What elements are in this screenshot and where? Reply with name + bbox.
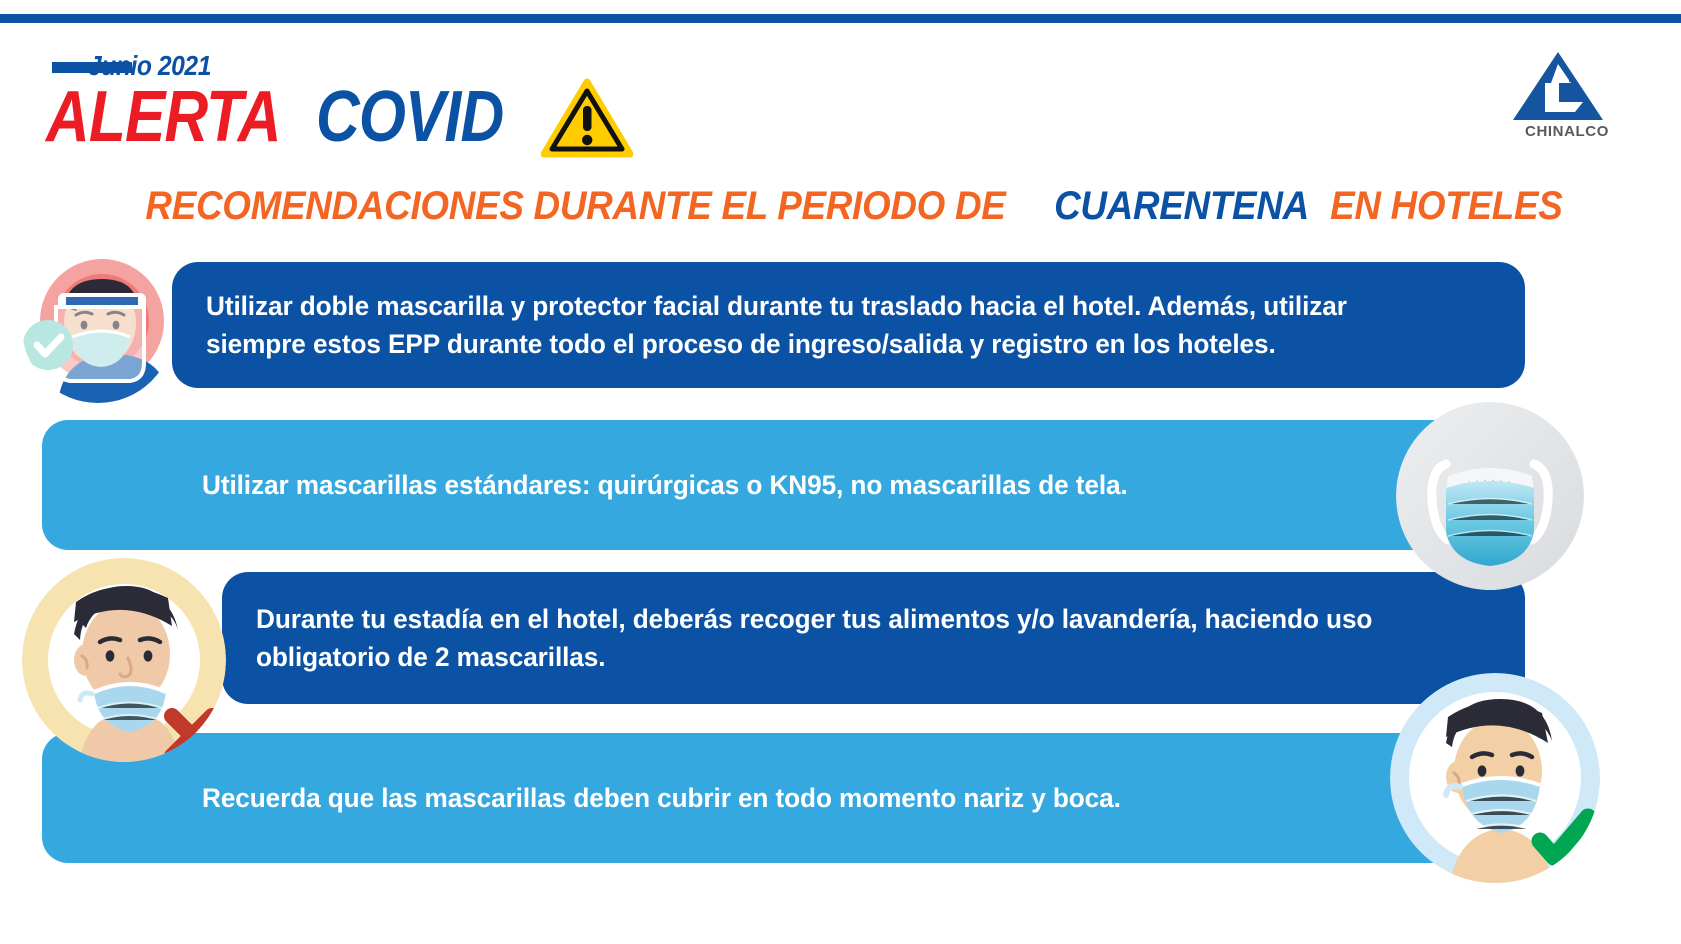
recommendation-text-3: Durante tu estadía en el hotel, deberás … — [256, 600, 1454, 677]
infographic-poster: Junio 2021 ALERTA COVID CHINALCO RECOMEN… — [0, 0, 1681, 944]
chinalco-logo: CHINALCO — [1511, 50, 1623, 140]
brand-alerta-text: ALERTA — [46, 81, 281, 153]
recommendation-card-4: Recuerda que las mascarillas deben cubri… — [42, 733, 1490, 863]
brand-title: ALERTA COVID — [46, 78, 633, 156]
chinalco-logo-text: CHINALCO — [1511, 123, 1623, 140]
face-shield-person-icon — [22, 251, 174, 403]
masked-person-correct-icon — [1390, 673, 1600, 883]
surgical-mask-icon — [1396, 402, 1584, 590]
recommendation-card-3: Durante tu estadía en el hotel, deberás … — [222, 572, 1525, 704]
subtitle-part2: EN HOTELES — [1330, 184, 1562, 229]
page-subtitle: RECOMENDACIONES DURANTE EL PERIODO DE CU… — [0, 184, 1681, 229]
subtitle-highlight: CUARENTENA — [1054, 184, 1309, 229]
recommendation-text-1: Utilizar doble mascarilla y protector fa… — [206, 287, 1452, 364]
mask-below-nose-person-icon — [22, 558, 226, 762]
recommendation-card-1: Utilizar doble mascarilla y protector fa… — [172, 262, 1525, 388]
recommendation-text-2: Utilizar mascarillas estándares: quirúrg… — [202, 466, 1128, 504]
chinalco-triangle-logo-icon — [1511, 50, 1623, 122]
brand-covid-text: COVID — [316, 81, 503, 153]
top-rule-divider — [0, 14, 1681, 23]
recommendation-card-2: Utilizar mascarillas estándares: quirúrg… — [42, 420, 1490, 550]
recommendation-text-4: Recuerda que las mascarillas deben cubri… — [202, 779, 1121, 817]
subtitle-part1: RECOMENDACIONES DURANTE EL PERIODO DE — [146, 184, 1006, 229]
warning-triangle-icon — [541, 78, 633, 158]
